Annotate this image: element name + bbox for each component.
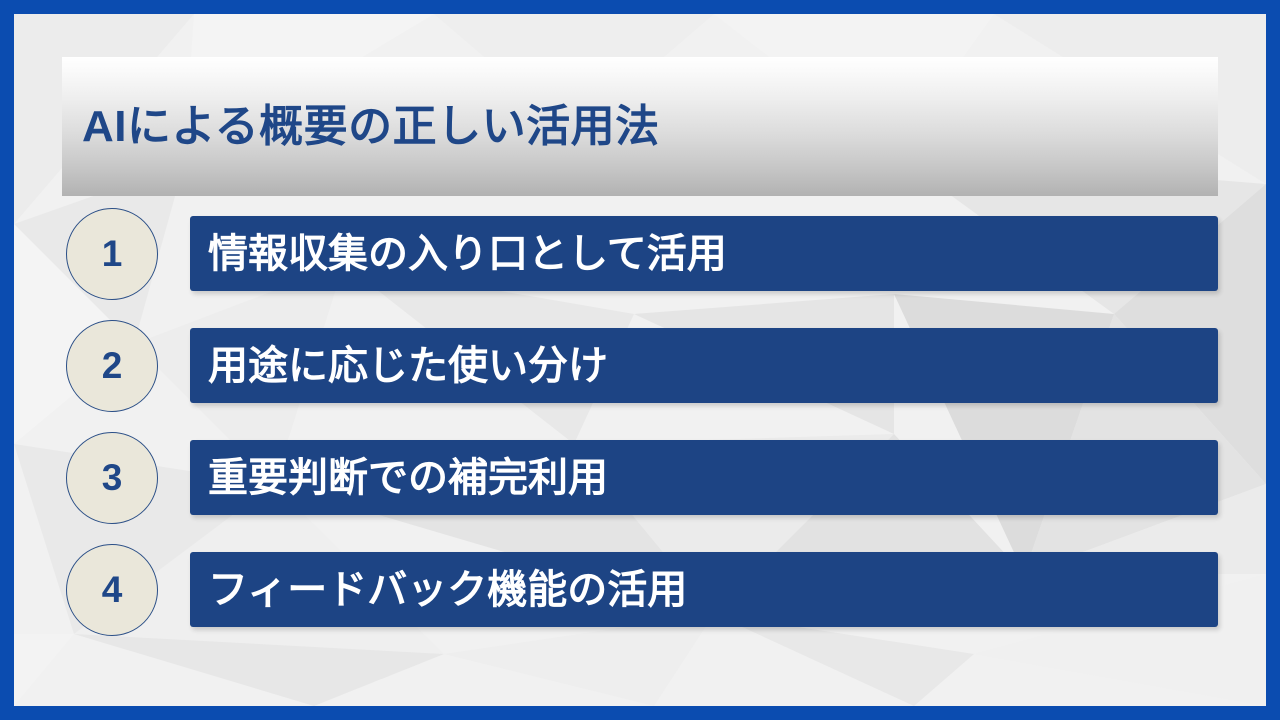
list-item-bar[interactable]: フィードバック機能の活用 — [190, 552, 1218, 627]
list-item[interactable]: 3 重要判断での補完利用 — [14, 440, 1266, 515]
list-item-label: フィードバック機能の活用 — [190, 570, 687, 610]
page-title: AIによる概要の正しい活用法 — [62, 105, 660, 149]
list-item-bar[interactable]: 情報収集の入り口として活用 — [190, 216, 1218, 291]
list-item[interactable]: 1 情報収集の入り口として活用 — [14, 216, 1266, 291]
slide: AIによる概要の正しい活用法 1 情報収集の入り口として活用 2 用途に応じた使… — [0, 0, 1280, 720]
list-item-bar[interactable]: 用途に応じた使い分け — [190, 328, 1218, 403]
list-item-number-badge: 1 — [66, 208, 158, 300]
list-item-label: 用途に応じた使い分け — [190, 346, 608, 386]
list-item[interactable]: 2 用途に応じた使い分け — [14, 328, 1266, 403]
list-item-bar[interactable]: 重要判断での補完利用 — [190, 440, 1218, 515]
slide-canvas: AIによる概要の正しい活用法 1 情報収集の入り口として活用 2 用途に応じた使… — [14, 14, 1266, 706]
list-item-number-badge: 3 — [66, 432, 158, 524]
list-item-label: 情報収集の入り口として活用 — [190, 234, 727, 274]
list-item-number-badge: 4 — [66, 544, 158, 636]
list-item-label: 重要判断での補完利用 — [190, 458, 608, 498]
list-item-number-badge: 2 — [66, 320, 158, 412]
list-item[interactable]: 4 フィードバック機能の活用 — [14, 552, 1266, 627]
title-plate: AIによる概要の正しい活用法 — [62, 57, 1218, 196]
numbered-list: 1 情報収集の入り口として活用 2 用途に応じた使い分け 3 重要判断での補完利… — [14, 216, 1266, 627]
